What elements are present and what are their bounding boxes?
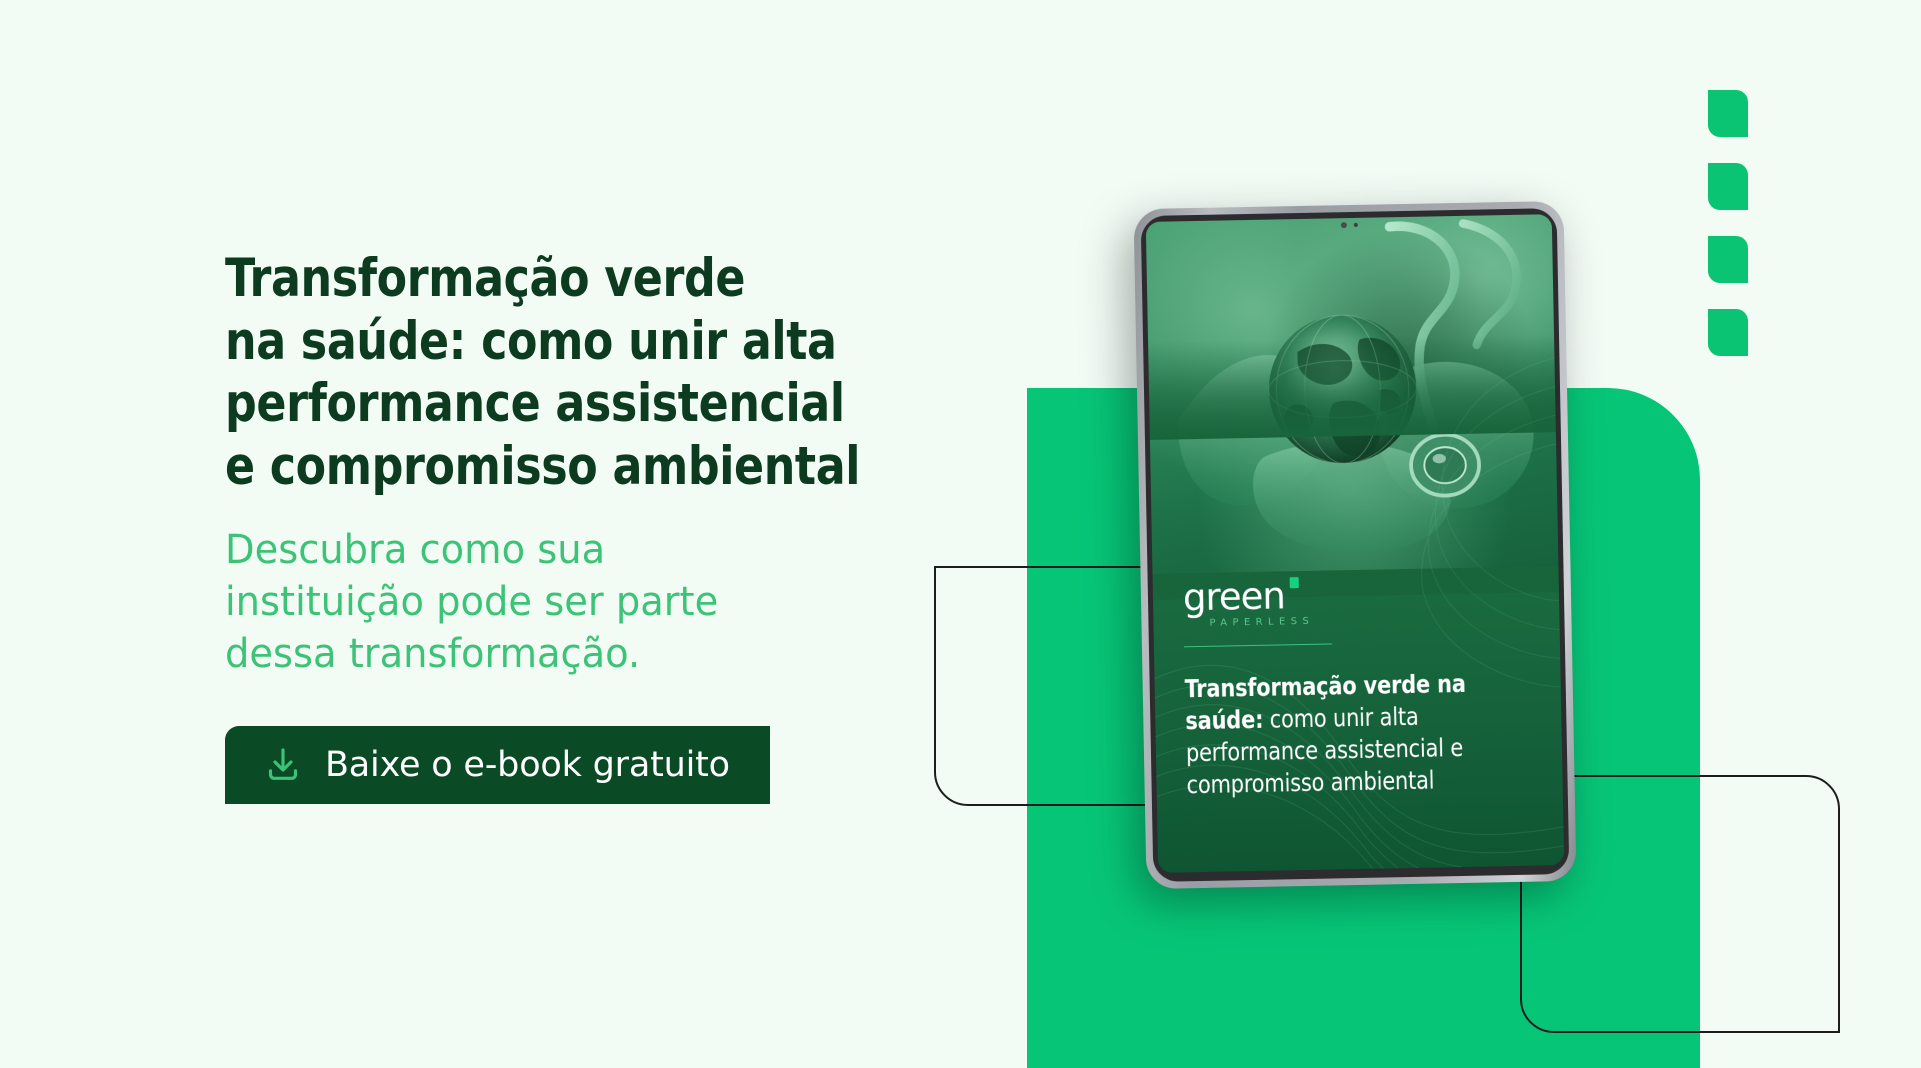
download-icon	[263, 745, 303, 785]
front-camera	[1332, 221, 1366, 229]
page-subtitle: Descubra como sua instituição pode ser p…	[225, 524, 935, 680]
download-ebook-button[interactable]: Baixe o e-book gratuito	[225, 726, 770, 804]
hero-content: Transformação verde na saúde: como unir …	[225, 248, 965, 804]
brand-logo: green PAPERLESS	[1183, 573, 1536, 630]
cover-text-block: green PAPERLESS Transformação verde na s…	[1183, 573, 1539, 801]
cover-photo	[1146, 214, 1559, 573]
camera-sensor-icon	[1353, 222, 1357, 226]
download-ebook-label: Baixe o e-book gratuito	[325, 745, 730, 785]
hero-banner: green PAPERLESS Transformação verde na s…	[0, 0, 1921, 1068]
logo-wordmark: green	[1183, 577, 1286, 616]
cover-divider	[1184, 644, 1332, 648]
cover-headline: Transformação verde na saúde: como unir …	[1184, 667, 1521, 801]
decorative-square	[1708, 163, 1748, 210]
camera-lens-icon	[1340, 222, 1346, 228]
tablet-mockup: green PAPERLESS Transformação verde na s…	[1134, 201, 1577, 889]
logo-dot-icon	[1289, 577, 1298, 588]
decorative-square	[1708, 309, 1748, 356]
photo-fade	[1148, 334, 1556, 440]
decorative-squares	[1708, 90, 1748, 356]
decorative-square	[1708, 236, 1748, 283]
page-title: Transformação verde na saúde: como unir …	[225, 248, 913, 498]
decorative-square	[1708, 90, 1748, 137]
tablet-screen: green PAPERLESS Transformação verde na s…	[1146, 214, 1564, 873]
